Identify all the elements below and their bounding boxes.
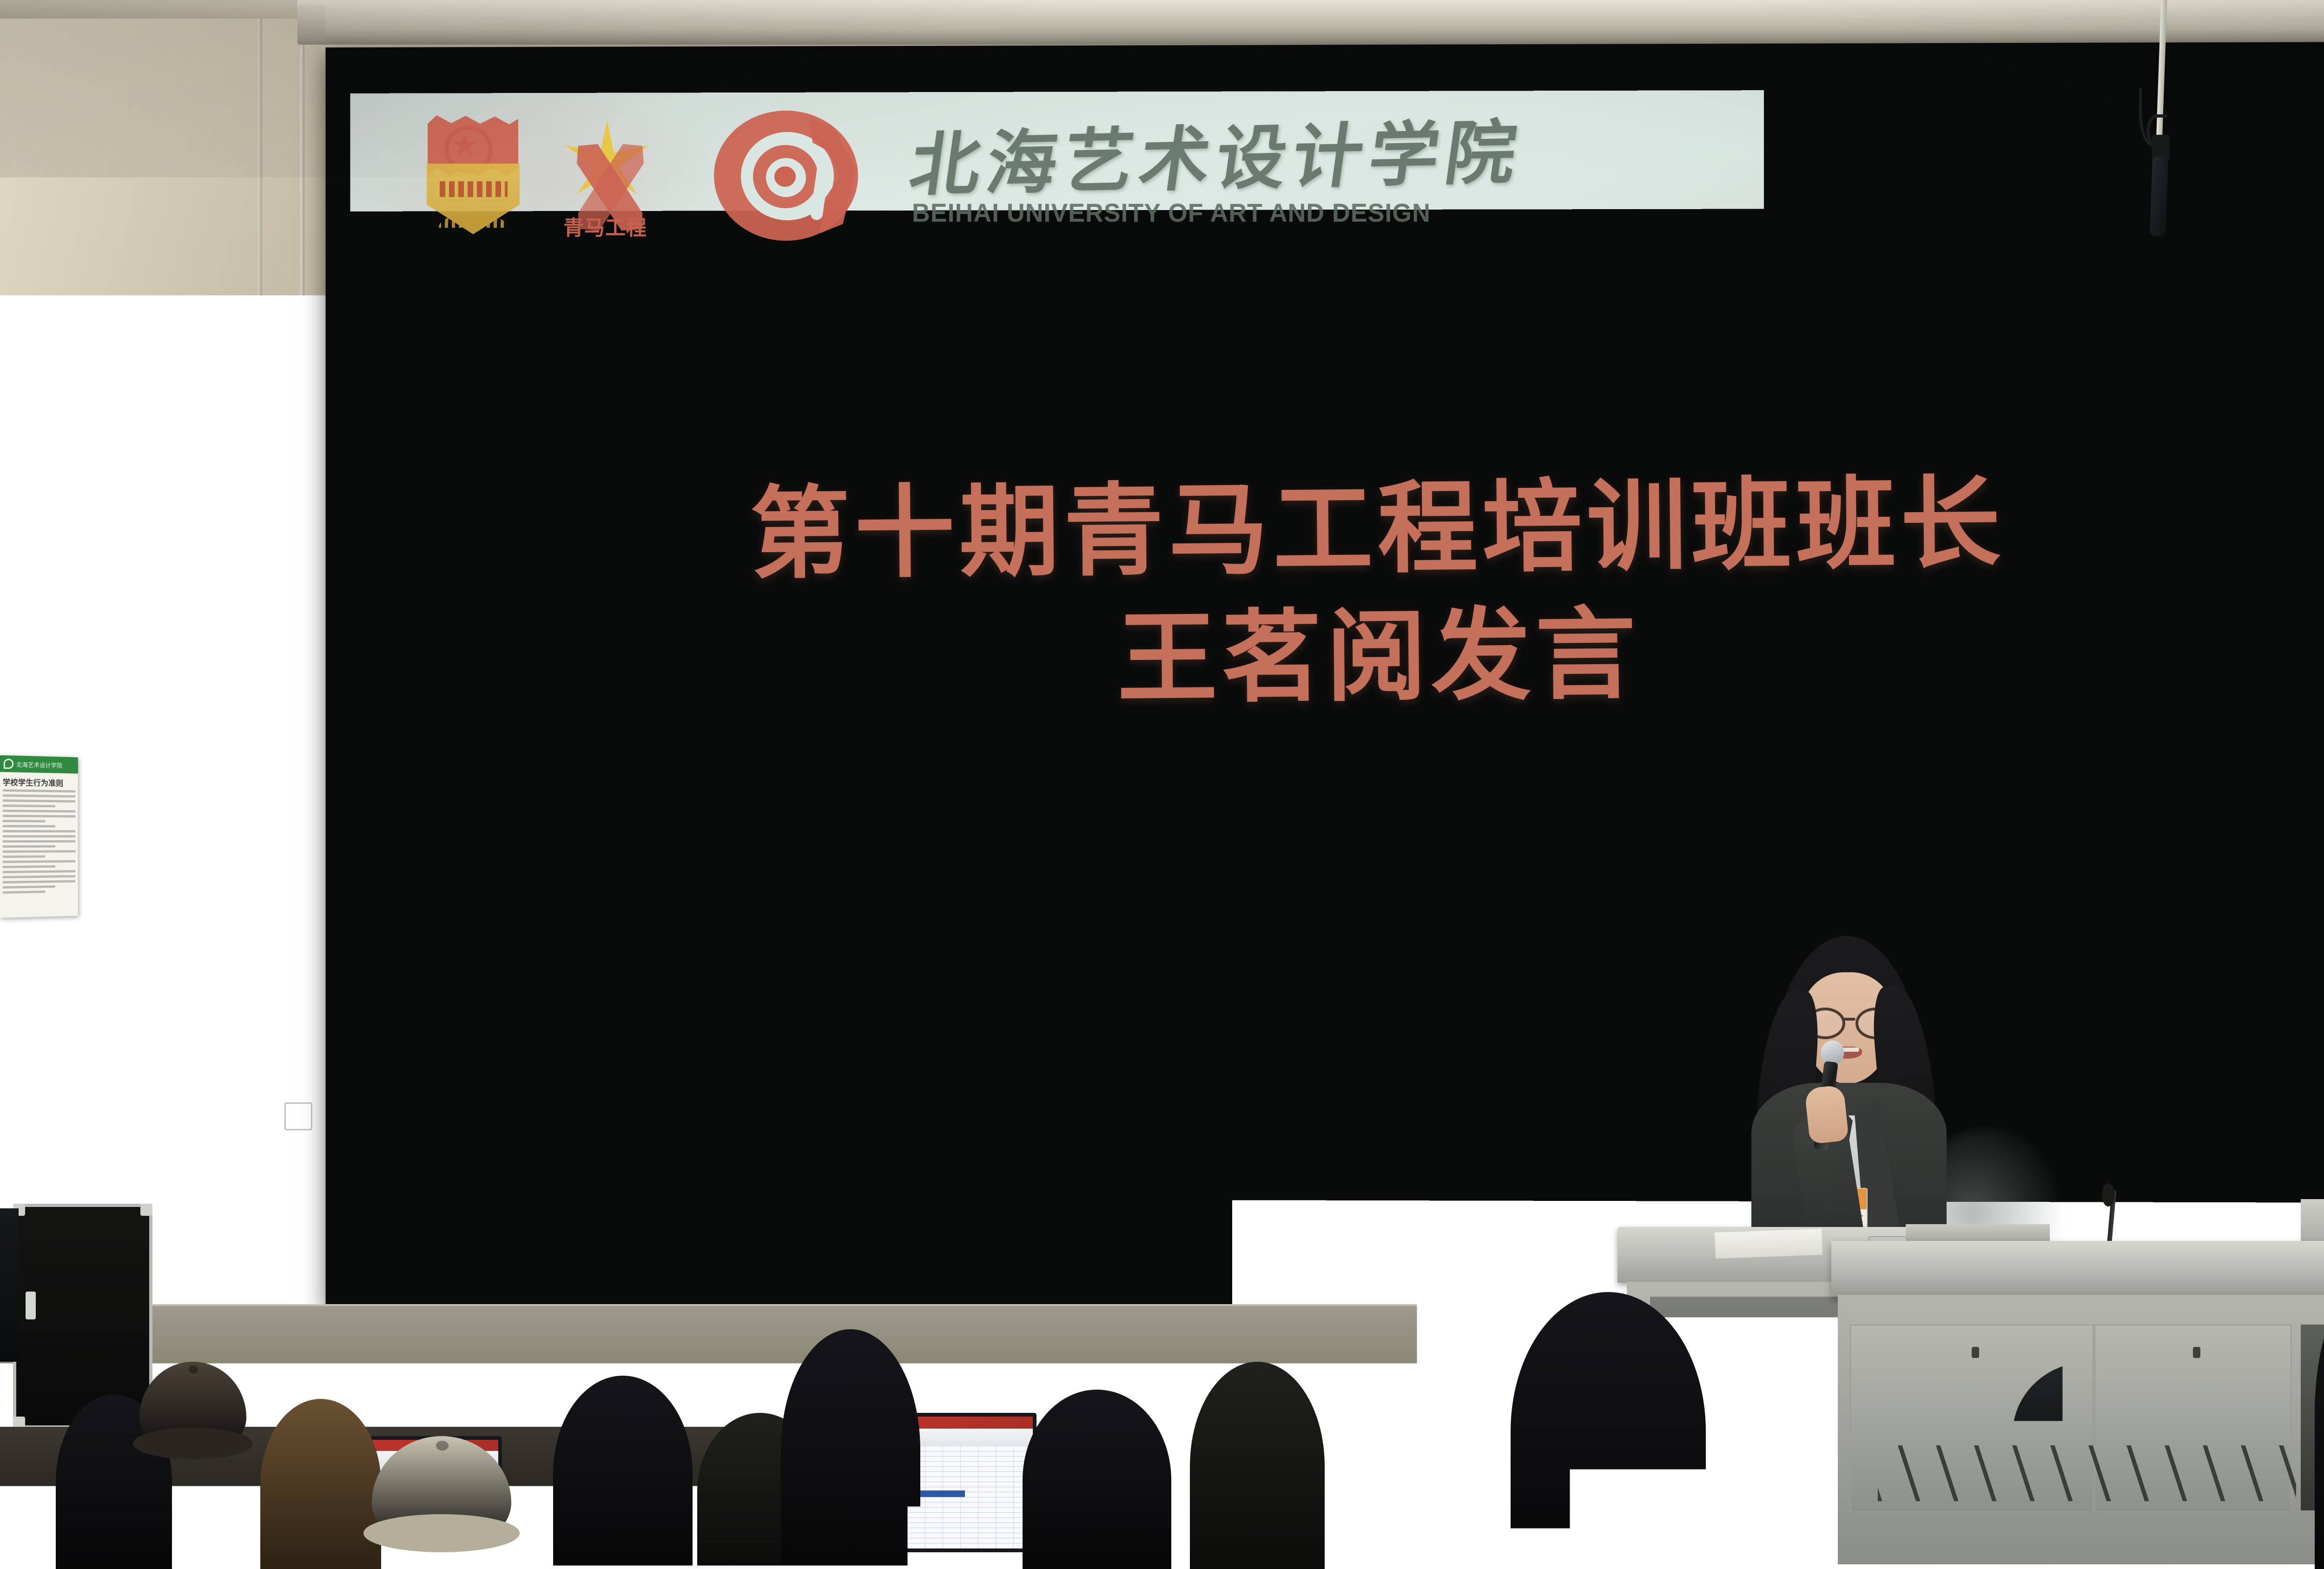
wall-seam [258,0,262,1255]
left-dark-monitor [0,1208,19,1362]
laptop-lid [2017,1478,2194,1569]
screen-roller-housing [297,0,2324,45]
audience-head [260,1399,381,1569]
wall-outlet-plate[interactable] [117,1078,149,1110]
audience-cap [372,1436,511,1548]
console-top [1831,1241,2324,1297]
audience-laptop[interactable] [2017,1478,2194,1569]
paper-script [1715,1229,1822,1259]
laptop-screen [2021,1482,2190,1565]
slide-headline: 第十期青马工程培训班班长 王茗阅发言 [345,456,2324,730]
case-latch[interactable] [26,1292,36,1319]
qingma-star-icon: 青马工程 [539,112,679,237]
audience-head [1511,1292,1706,1569]
audience-head [1190,1362,1325,1569]
console-upper-shelf [2301,1199,2324,1246]
university-name-block: 北海艺术设计学院 BEIHAI UNIVERSITY OF ART AND DE… [900,121,1771,228]
slide-headline-line2: 王茗阅发言 [346,584,2324,730]
audience-laptop[interactable] [2231,1487,2324,1569]
qingma-program-label: 青马工程 [563,218,656,239]
poster-body-text [3,789,75,894]
lecture-hall-photo: 青马工程 北海艺术设计学院 BEIHAI UNIVERSITY OF ART A… [0,0,2324,1569]
ptz-camera-left-icon [13,618,120,702]
audience-cap [139,1362,246,1455]
wall-outlet-plate[interactable] [284,1102,312,1130]
slide-logo-row: 青马工程 北海艺术设计学院 BEIHAI UNIVERSITY OF ART A… [423,107,1771,242]
roller-cap-left [297,5,325,41]
poster-logo-icon [4,758,13,769]
wall-poster-student-code: 北海艺术设计学院 学校学生行为准则 [0,755,78,918]
hanging-microphone-boom [2147,0,2175,246]
poster-header: 北海艺术设计学院 [0,755,78,774]
communist-youth-league-emblem-icon [423,112,539,237]
slide-headline-line1: 第十期青马工程培训班班长 [345,456,2324,602]
poster-header-text: 北海艺术设计学院 [16,759,62,769]
gooseneck-microphone-capsule [2102,1183,2115,1206]
university-name-chinese: 北海艺术设计学院 [906,112,1777,200]
audience-head [553,1376,693,1569]
audience-cap [2013,1362,2166,1483]
poster-title: 学校学生行为准则 [3,776,75,788]
speaker-hand-holding-mic [1804,1085,1849,1144]
hanging-microphone-icon [2150,157,2168,236]
camera-status-led [46,678,53,684]
audience-head [781,1329,920,1569]
laptop-screen [2235,1491,2324,1565]
console-riser [1906,1224,2050,1243]
university-name-english: BEIHAI UNIVERSITY OF ART AND DESIGN [912,198,1736,228]
audience-head [1023,1390,1171,1569]
laptop-lid [2231,1487,2324,1569]
beihai-university-swirl-logo-icon [705,107,900,242]
wall-seam [300,0,304,1227]
flight-case [13,1204,152,1429]
